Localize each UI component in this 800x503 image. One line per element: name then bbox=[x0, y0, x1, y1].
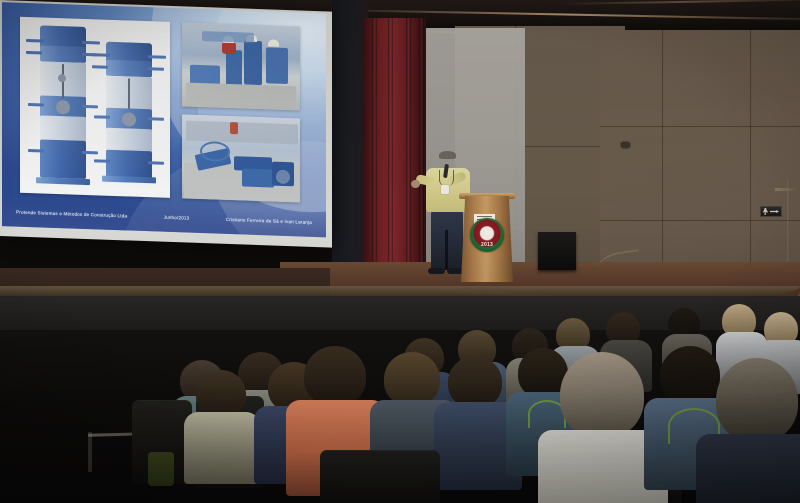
audience-head bbox=[660, 346, 720, 404]
aisle-rail-post bbox=[88, 432, 92, 472]
slide-panel-site-photo-workers bbox=[182, 22, 300, 110]
projection-screen: Protende Sistemas e Métodos de Construçã… bbox=[0, 0, 332, 248]
stage-curtain bbox=[364, 18, 426, 290]
presenter-hand-left bbox=[411, 180, 420, 188]
slide-panel-site-photo-equipment bbox=[182, 114, 300, 202]
auditorium-photo: Protende Sistemas e Métodos de Construçã… bbox=[0, 0, 800, 503]
audience-body bbox=[696, 434, 800, 503]
audience-head bbox=[304, 346, 366, 406]
audience-head bbox=[560, 352, 644, 438]
audience-head bbox=[448, 356, 502, 408]
audience-head bbox=[716, 358, 798, 442]
audience-head bbox=[196, 370, 246, 418]
running-man-icon bbox=[763, 208, 768, 215]
event-logo-year: 2013 bbox=[481, 242, 493, 248]
slide-panel-cad-drawings bbox=[20, 17, 170, 198]
cad-jack-left bbox=[40, 25, 86, 187]
presenter-badge bbox=[441, 185, 449, 194]
auditorium-seat bbox=[320, 450, 440, 503]
audience-head bbox=[384, 352, 440, 406]
presenter-hair bbox=[439, 151, 456, 159]
loudspeaker-cabinet bbox=[538, 232, 576, 270]
cad-jack-right bbox=[106, 42, 152, 192]
event-logo: 2013 bbox=[470, 218, 504, 252]
audience-body bbox=[184, 412, 260, 484]
wall-handrail bbox=[775, 188, 800, 191]
presenter-leg-gap bbox=[445, 230, 448, 270]
arrow-right-icon bbox=[770, 210, 779, 213]
wall-fixture bbox=[620, 141, 631, 149]
slide-footer-date: Junho/2013 bbox=[164, 215, 190, 221]
presenter-shoe bbox=[428, 268, 445, 274]
seat-accent bbox=[148, 452, 174, 486]
presentation-slide: Protende Sistemas e Métodos de Construçã… bbox=[2, 2, 326, 237]
stage-shadow-left bbox=[332, 0, 368, 300]
exit-sign bbox=[760, 206, 782, 217]
